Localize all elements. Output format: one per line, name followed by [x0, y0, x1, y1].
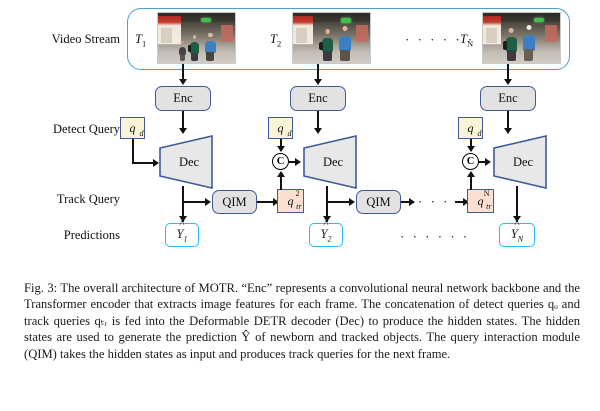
pred-2-hat: ^: [321, 221, 332, 227]
qd-n-label: qd: [468, 122, 474, 134]
pred-n-label: ^YN: [511, 227, 523, 244]
dec-1-label: Dec: [158, 134, 214, 190]
enc-1-label: Enc: [173, 91, 192, 106]
connector-qd1-down: [132, 139, 134, 164]
arrow-qtr2-concat: [277, 171, 285, 177]
frame-2-time-label: T2: [270, 32, 281, 49]
dec-1: Dec: [158, 134, 214, 190]
frame-pedestrian-a: [505, 28, 519, 61]
arrow-frame2-enc2: [314, 79, 322, 85]
pedestrian-head: [526, 25, 531, 30]
arrow-concatn-decn: [485, 158, 491, 166]
arrow-qim2-ellipsis: [409, 198, 415, 206]
pedestrian-head: [181, 41, 184, 44]
row-label-predictions: Predictions: [8, 228, 120, 243]
qd-2: qd: [268, 117, 293, 139]
arrow-dec2-qim2: [349, 198, 355, 206]
pedestrian-legs: [524, 49, 533, 61]
qim-2-label: QIM: [366, 195, 390, 210]
frame-n: [482, 12, 561, 64]
pedestrian-legs: [191, 53, 198, 61]
frame-pedestrian-b: [338, 26, 353, 61]
row-label-video-stream: Video Stream: [8, 32, 120, 47]
connector-qd1-right: [132, 162, 155, 164]
arrow-qtrn-concat: [467, 171, 475, 177]
arrow-dec1-qim1: [205, 198, 211, 206]
figure-number: Fig. 3:: [24, 281, 57, 295]
qtr-n-label: qNtr: [478, 195, 484, 207]
row-label-detect-query: Detect Query: [8, 122, 120, 137]
pedestrian-body: [190, 42, 200, 53]
pred-2-label: ^Y2: [321, 227, 332, 244]
dec-n-label: Dec: [492, 134, 548, 190]
frame-green-sign: [534, 18, 544, 23]
pedestrian-head: [325, 29, 330, 34]
connector-qtrn-concat: [470, 176, 472, 190]
qim-2: QIM: [356, 190, 401, 214]
frame-pedestrian-c: [178, 41, 186, 61]
row-label-track-query: Track Query: [8, 192, 120, 207]
arrow-frame1-enc1: [179, 79, 187, 85]
ellipsis-pred: · · · · · ·: [400, 229, 470, 245]
dec-2: Dec: [302, 134, 358, 190]
architecture-diagram: Video Stream Detect Query Track Query Pr…: [0, 0, 600, 266]
pred-n-hat: ^: [511, 221, 523, 227]
qtr-2-label: q2tr: [288, 195, 294, 207]
arrow-qdn-concat: [467, 146, 475, 152]
frame-green-sign: [341, 18, 351, 23]
pred-1-label: ^Y1: [177, 227, 188, 244]
frame-pedestrian-a: [321, 29, 335, 61]
figure-caption: Fig. 3: The overall architecture of MOTR…: [24, 280, 580, 362]
connector-dec1-qim1: [182, 201, 207, 203]
enc-2-label: Enc: [308, 91, 327, 106]
qd-1: qd: [120, 117, 145, 139]
arrow-qd2-concat: [277, 146, 285, 152]
frame-green-sign: [201, 18, 211, 23]
connector-qtr2-concat: [280, 176, 282, 190]
connector-dec2-qim2: [326, 201, 351, 203]
frame-shelf: [486, 28, 497, 43]
enc-1: Enc: [155, 86, 211, 111]
pred-2: ^Y2: [309, 223, 343, 247]
frame-shelf: [296, 28, 307, 43]
frame-2: [292, 12, 371, 64]
dec-2-label: Dec: [302, 134, 358, 190]
pedestrian-head: [509, 28, 514, 33]
frame-pedestrian-b: [522, 25, 537, 61]
qtr-2: q2tr: [277, 189, 304, 213]
concat-2: C: [272, 153, 289, 170]
pedestrian-body: [322, 38, 334, 52]
frame-1-time-label: T1: [135, 32, 146, 49]
concat-2-glyph: C: [277, 156, 285, 167]
pedestrian-bag: [319, 42, 323, 50]
qd-1-label: qd: [130, 122, 136, 134]
dec-n: Dec: [492, 134, 548, 190]
pedestrian-head: [193, 35, 197, 39]
pedestrian-legs: [507, 50, 516, 61]
frame-n-time-label: TN: [460, 32, 473, 49]
pedestrian-body: [339, 36, 351, 51]
pedestrian-bag: [188, 45, 191, 52]
pedestrian-legs: [180, 55, 185, 61]
frame-1: [157, 12, 236, 64]
figure-page: Video Stream Detect Query Track Query Pr…: [0, 0, 600, 411]
pedestrian-head: [208, 33, 212, 37]
qim-1: QIM: [212, 190, 257, 214]
figure-caption-text: The overall architecture of MOTR. “Enc” …: [24, 281, 580, 361]
qim-1-label: QIM: [222, 195, 246, 210]
frame-right-stall: [545, 25, 557, 42]
pred-1-hat: ^: [177, 221, 188, 227]
pedestrian-legs: [206, 52, 214, 61]
pedestrian-head: [342, 26, 347, 31]
enc-n: Enc: [480, 86, 536, 111]
pred-n: ^YN: [499, 223, 535, 247]
frame-right-stall: [221, 25, 233, 42]
concat-n: C: [462, 153, 479, 170]
enc-2: Enc: [290, 86, 346, 111]
pedestrian-legs: [340, 50, 349, 61]
qd-2-label: qd: [278, 122, 284, 134]
pred-1: ^Y1: [165, 223, 199, 247]
qtr-n: qNtr: [467, 189, 494, 213]
frame-pedestrian-b: [204, 33, 216, 61]
qd-n: qd: [458, 117, 483, 139]
pedestrian-legs: [323, 51, 332, 61]
frame-shelf: [161, 28, 172, 43]
frame-right-stall: [356, 25, 368, 42]
arrow-framen-encn: [504, 79, 512, 85]
arrow-concat2-dec2: [295, 158, 301, 166]
pedestrian-bag: [503, 41, 507, 50]
frame-pedestrian-a: [189, 35, 201, 61]
concat-n-glyph: C: [467, 156, 475, 167]
enc-n-label: Enc: [498, 91, 517, 106]
